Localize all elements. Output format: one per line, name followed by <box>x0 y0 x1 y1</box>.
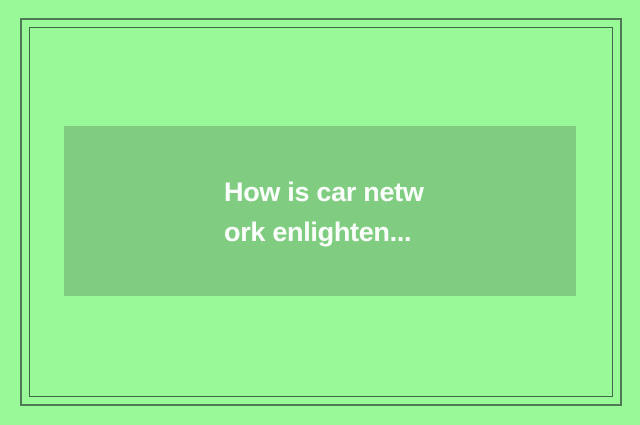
screenshot-canvas: How is car netw ork enlighten... <box>0 0 640 425</box>
content-card: How is car netw ork enlighten... <box>64 126 576 296</box>
card-title: How is car netw ork enlighten... <box>224 172 554 252</box>
